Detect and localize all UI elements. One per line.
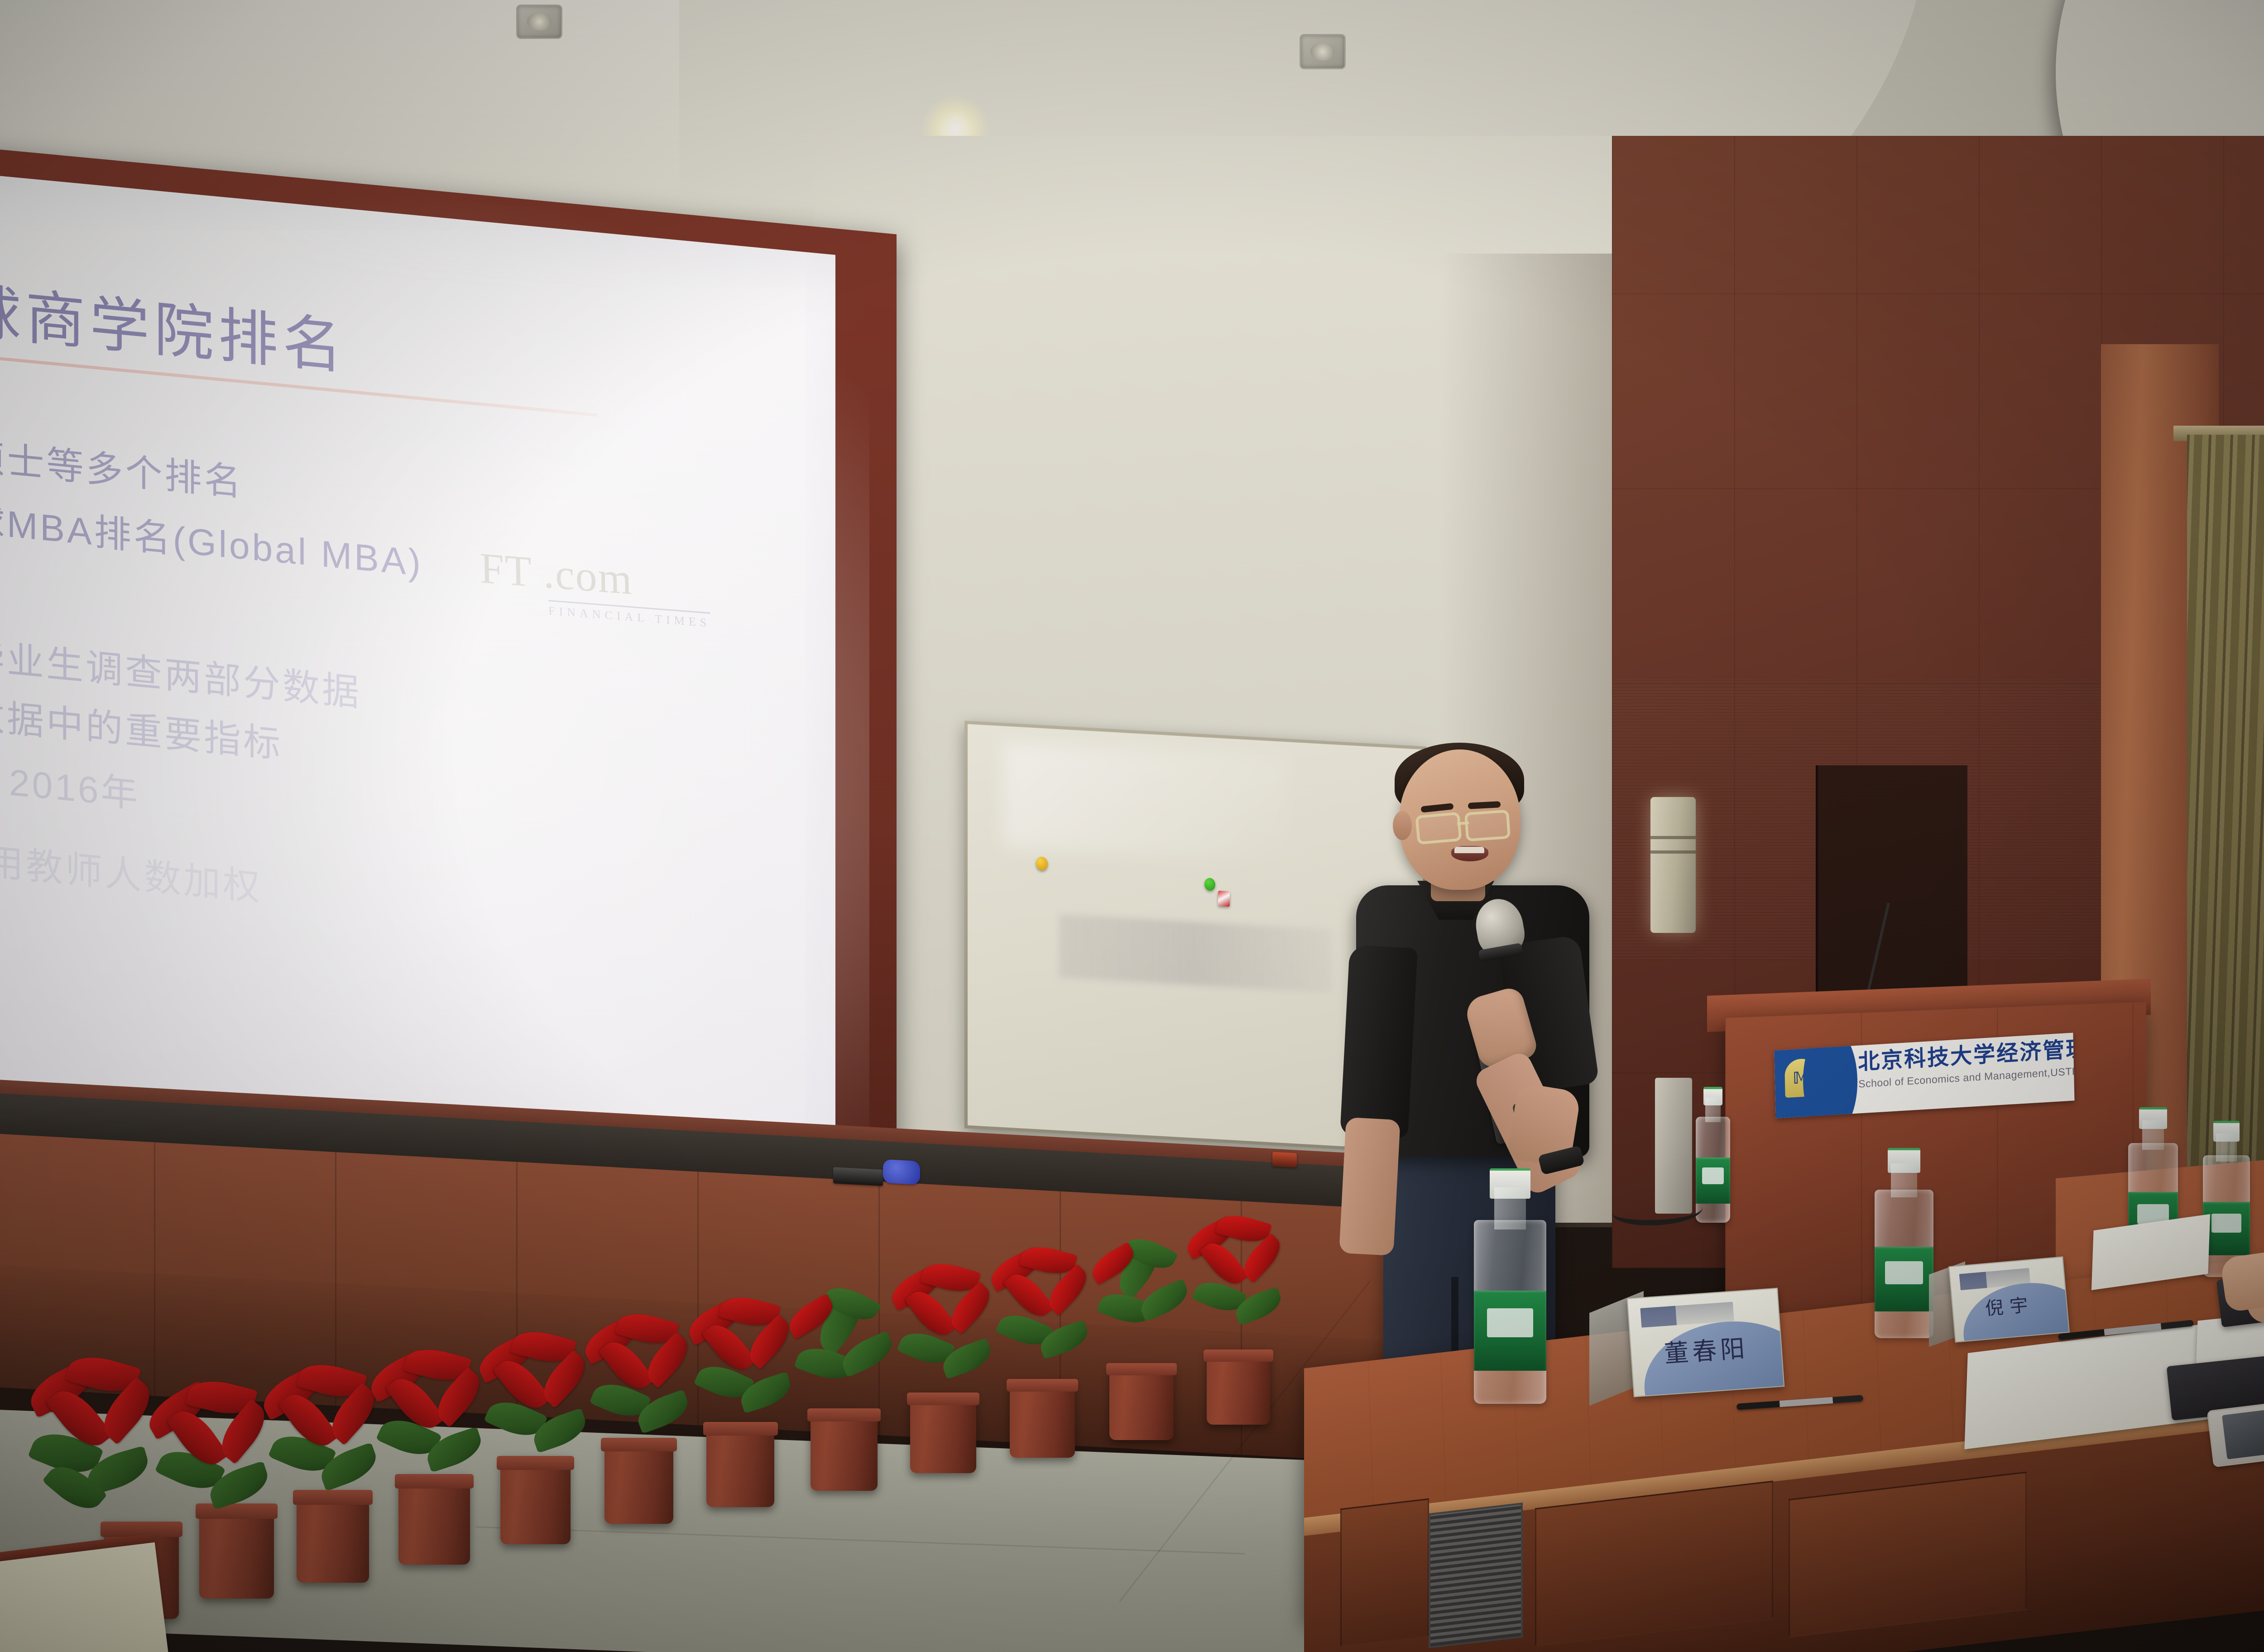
foreground-cream-panel: [0, 1541, 170, 1652]
name-placard-second: 倪宇: [1948, 1256, 2070, 1342]
speaker-head: [1399, 749, 1521, 890]
name-placard-front: 董春阳: [1627, 1288, 1784, 1397]
wall-sconce-light: [1650, 797, 1696, 933]
bottle-label: [1875, 1247, 1933, 1311]
marker-blue[interactable]: [883, 1159, 920, 1185]
podium-side-speaker: [1655, 1078, 1692, 1214]
placard-school-logo: [1640, 1301, 1734, 1327]
marker-black[interactable]: [833, 1167, 883, 1186]
flower-pot: [1207, 1349, 1270, 1425]
speaker-ear: [1393, 811, 1412, 840]
table-vent-grille: [1429, 1503, 1523, 1648]
ustb-emblem-icon: 𝕄: [1784, 1058, 1818, 1098]
glasses-lens-right: [1464, 810, 1511, 842]
sign-badge-blue: 𝕄: [1775, 1047, 1830, 1119]
ft-logo-main: FT .com: [480, 543, 710, 610]
lecture-hall-photo: 报全球商学院排名 A\管理学硕士等多个排名 排名是全球MBA排名(Global …: [0, 0, 2264, 1652]
flower-pot: [1010, 1379, 1075, 1458]
table-front-panel: [1535, 1481, 1773, 1647]
speaker-eyebrow-left: [1420, 803, 1453, 812]
speaker-sleeve-left: [1340, 945, 1418, 1138]
speaker-arm-left: [1339, 1117, 1401, 1256]
placard-school-logo: [1959, 1268, 2031, 1290]
bottle-label: [1474, 1291, 1546, 1371]
whiteboard-sheen: [1004, 742, 1286, 862]
water-bottle-right-b[interactable]: [2203, 1121, 2250, 1277]
glasses-lens-left: [1415, 812, 1462, 845]
magnet-red[interactable]: [1218, 890, 1230, 906]
ceiling-light-fixture: [1300, 34, 1346, 69]
whiteboard-erased-writing: [1059, 914, 1332, 993]
poinsettia-plant: [1182, 1189, 1304, 1356]
water-bottle-front[interactable]: [1474, 1168, 1546, 1404]
speaker-eyebrow-right: [1468, 801, 1501, 809]
flower-pot: [1109, 1363, 1174, 1440]
marker-red[interactable]: [1272, 1152, 1297, 1168]
placard-name: 倪宇: [1952, 1287, 2067, 1323]
magnet-yellow[interactable]: [1036, 856, 1048, 870]
ceiling-light-fixture: [516, 5, 562, 39]
projected-slide: 报全球商学院排名 A\管理学硕士等多个排名 排名是全球MBA排名(Global …: [0, 171, 835, 1201]
bottle-label: [2203, 1202, 2250, 1255]
water-bottle-mid[interactable]: [1875, 1148, 1933, 1338]
placard-name: 董春阳: [1631, 1325, 1782, 1372]
table-front-panel: [1789, 1472, 2027, 1638]
speaker-teeth: [1454, 847, 1484, 853]
ft-dotcom-logo: FT .com FINANCIAL TIMES: [480, 543, 711, 630]
table-front-panel: [1340, 1498, 1429, 1647]
magnet-green[interactable]: [1204, 878, 1215, 891]
slide-title: 报全球商学院排名: [0, 250, 693, 418]
